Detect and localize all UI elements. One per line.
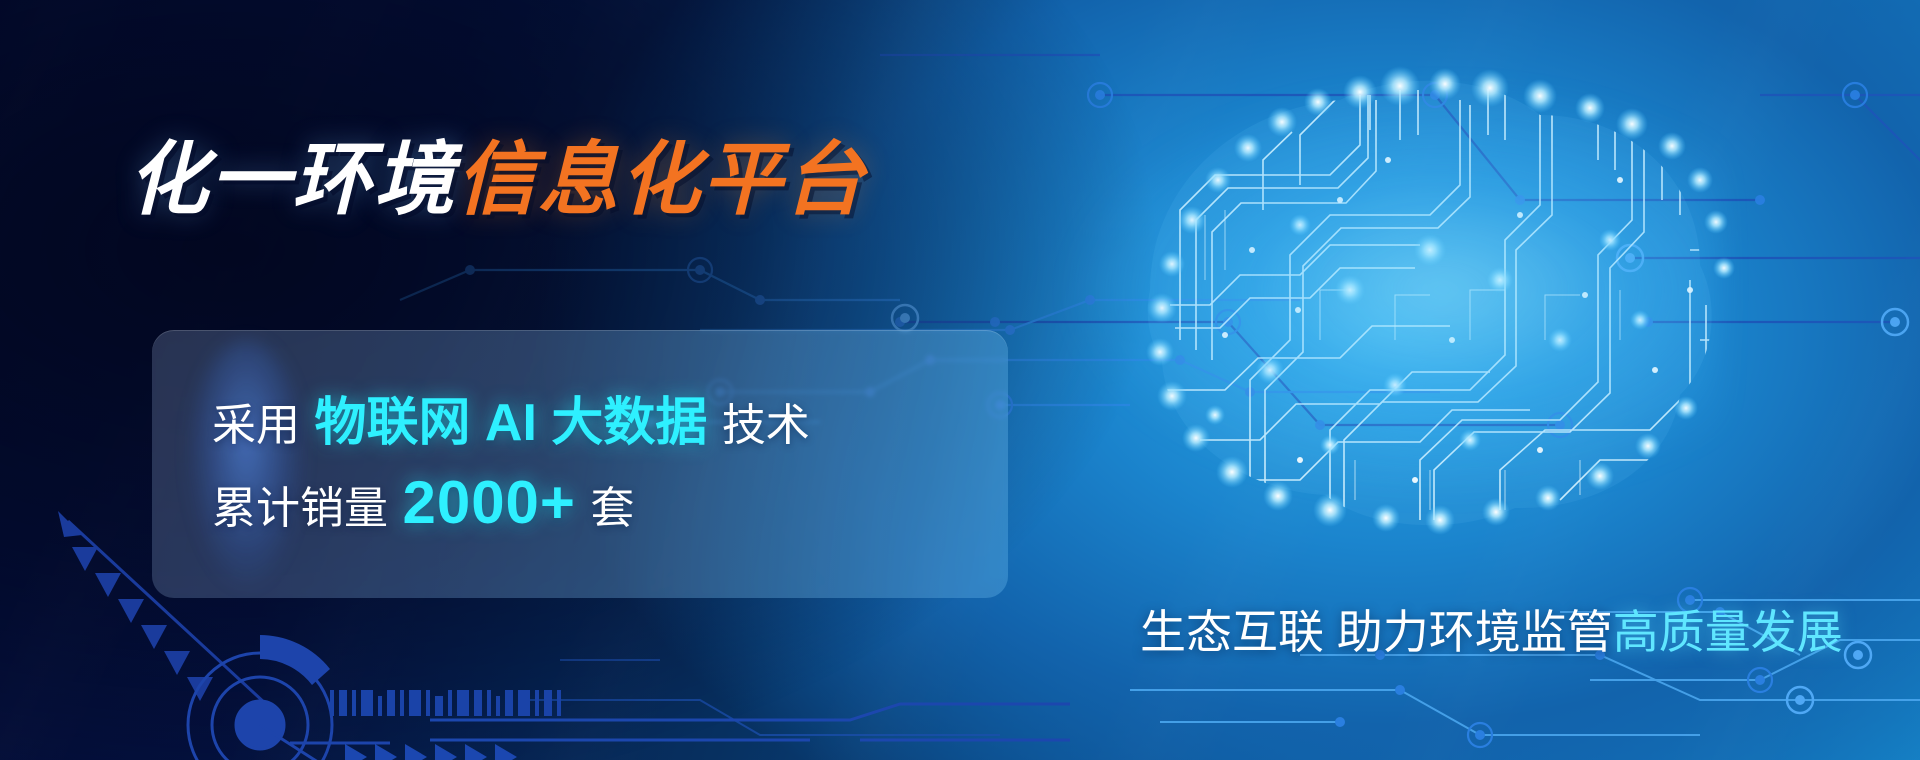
tagline-highlight: 高质量发展: [1613, 606, 1843, 658]
feature-line-2-suffix: 套: [590, 484, 634, 533]
feature-line-1-suffix: 技术: [722, 401, 810, 450]
promo-banner: 化一环境信息化平台 采用 物联网 AI 大数据 技术 累计销量 2000+ 套 …: [0, 0, 1920, 760]
feature-line-2-prefix: 累计销量: [212, 484, 388, 533]
triangle-arrow-row-icon: [345, 744, 517, 760]
feature-line-2: 累计销量 2000+ 套: [212, 468, 634, 537]
feature-line-2-highlight: 2000+: [402, 469, 576, 536]
circuit-brain-icon: [1000, 40, 1780, 540]
tagline-plain: 生态互联 助力环境监管: [1140, 606, 1613, 658]
banner-headline: 化一环境信息化平台: [128, 140, 866, 220]
feature-line-1-highlight: 物联网 AI 大数据: [314, 394, 707, 452]
banner-tagline: 生态互联 助力环境监管高质量发展: [1140, 596, 1843, 662]
card-glow-accent: [186, 340, 306, 590]
hud-lines-icon: [430, 700, 1070, 760]
feature-line-1-prefix: 采用: [212, 401, 300, 450]
headline-product: 信息化平台: [456, 135, 866, 224]
feature-card: 采用 物联网 AI 大数据 技术 累计销量 2000+ 套: [152, 330, 1008, 598]
barcode-icon: [330, 690, 561, 716]
feature-line-1: 采用 物联网 AI 大数据 技术: [212, 380, 810, 455]
headline-brand: 化一环境: [128, 135, 456, 224]
radar-dial-icon: [160, 625, 390, 760]
